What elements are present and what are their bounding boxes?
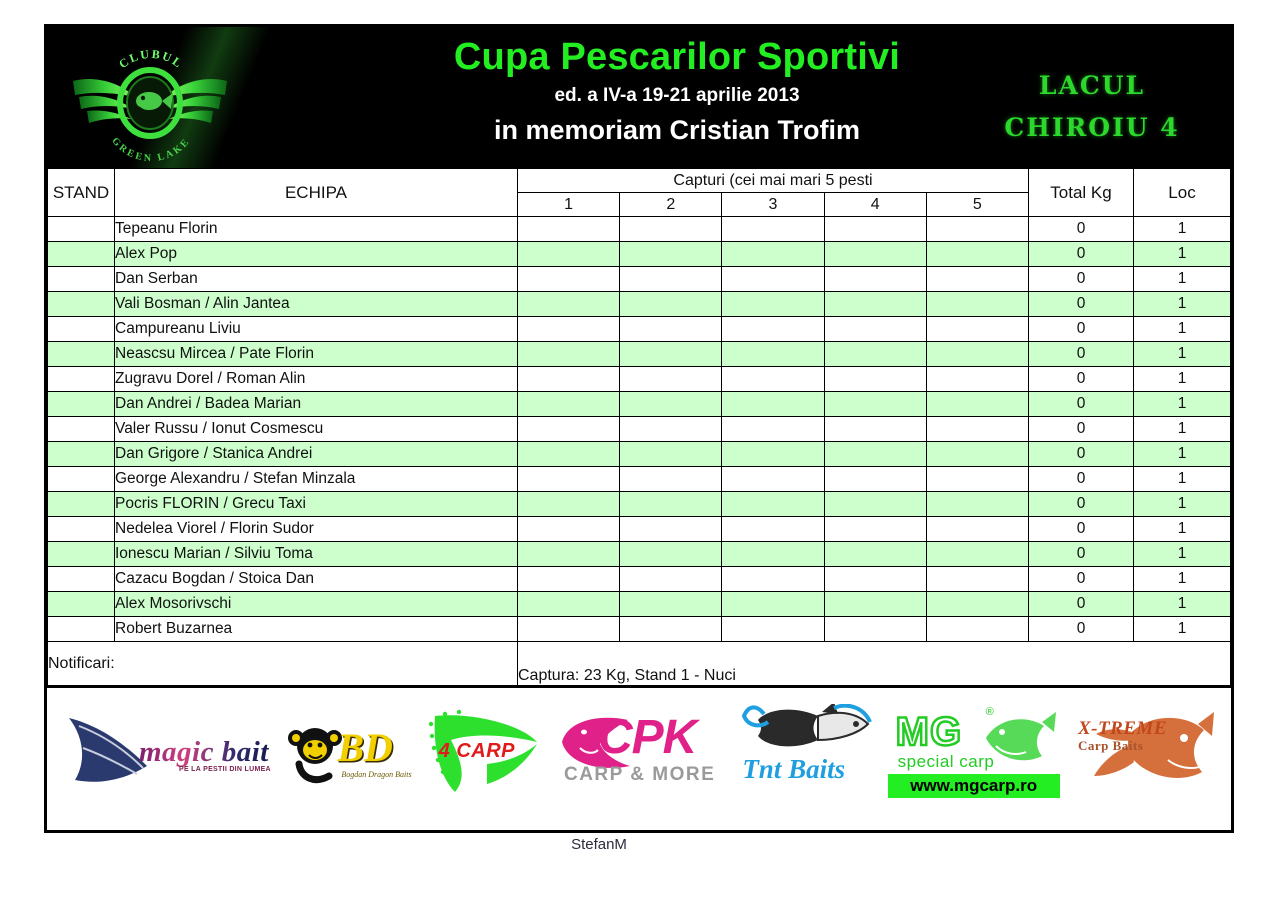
cell-capture-2[interactable]: [620, 567, 722, 592]
cell-capture-4[interactable]: [824, 367, 926, 392]
cell-capture-2[interactable]: [620, 217, 722, 242]
cell-loc[interactable]: 1: [1134, 542, 1231, 567]
cell-capture-3[interactable]: [722, 317, 824, 342]
cell-stand[interactable]: [48, 342, 115, 367]
table-row: Ionescu Marian / Silviu Toma01: [48, 542, 1231, 567]
sponsor-cpk-tagline: CARP & MORE: [564, 764, 715, 786]
cell-capture-1[interactable]: [518, 467, 620, 492]
cell-loc[interactable]: 1: [1134, 467, 1231, 492]
header-total-kg: Total Kg: [1029, 169, 1134, 217]
cell-capture-1[interactable]: [518, 267, 620, 292]
sponsor-4carp[interactable]: 4 CARP: [425, 702, 545, 798]
cell-capture-3[interactable]: [722, 242, 824, 267]
cell-capture-2[interactable]: [620, 417, 722, 442]
cell-capture-5[interactable]: [926, 292, 1028, 317]
cell-capture-5[interactable]: [926, 592, 1028, 617]
cell-loc[interactable]: 1: [1134, 517, 1231, 542]
sponsor-magic-bait-tagline: PE LA PESTII DIN LUMEA: [179, 766, 271, 773]
cell-capture-5[interactable]: [926, 267, 1028, 292]
cell-capture-2[interactable]: [620, 367, 722, 392]
cell-capture-5[interactable]: [926, 242, 1028, 267]
cell-capture-3[interactable]: [722, 417, 824, 442]
cell-echipa[interactable]: George Alexandru / Stefan Minzala: [115, 467, 518, 492]
cell-echipa[interactable]: Zugravu Dorel / Roman Alin: [115, 367, 518, 392]
lake-line-2: CHIROIU 4: [967, 111, 1217, 145]
cell-capture-1[interactable]: [518, 517, 620, 542]
cell-capture-4[interactable]: [824, 467, 926, 492]
sponsor-magic-bait[interactable]: magic bait PE LA PESTII DIN LUMEA: [61, 704, 276, 796]
cell-capture-2[interactable]: [620, 617, 722, 642]
cell-capture-3[interactable]: [722, 467, 824, 492]
sponsor-xtreme-tagline: Carp Baits: [1078, 738, 1143, 754]
cell-capture-1[interactable]: [518, 592, 620, 617]
cell-total-kg[interactable]: 0: [1029, 292, 1134, 317]
cell-echipa[interactable]: Alex Pop: [115, 242, 518, 267]
cell-total-kg[interactable]: 0: [1029, 392, 1134, 417]
cell-echipa[interactable]: Dan Andrei / Badea Marian: [115, 392, 518, 417]
sponsor-mg-special-carp[interactable]: MG ® special carp www.mgcarp.ro: [888, 698, 1063, 802]
cell-loc[interactable]: 1: [1134, 342, 1231, 367]
sponsor-bd-tagline: Bogdan Dragon Baits: [341, 770, 411, 779]
cell-capture-4[interactable]: [824, 517, 926, 542]
cell-stand[interactable]: [48, 242, 115, 267]
cell-capture-3[interactable]: [722, 517, 824, 542]
cell-total-kg[interactable]: 0: [1029, 592, 1134, 617]
cell-capture-3[interactable]: [722, 342, 824, 367]
green-carp-icon: [986, 712, 1056, 760]
cell-capture-3[interactable]: [722, 542, 824, 567]
cell-stand[interactable]: [48, 517, 115, 542]
cell-stand[interactable]: [48, 492, 115, 517]
cell-capture-2[interactable]: [620, 342, 722, 367]
cell-loc[interactable]: 1: [1134, 567, 1231, 592]
table-row: Campureanu Liviu01: [48, 317, 1231, 342]
table-row: Neascsu Mircea / Pate Florin01: [48, 342, 1231, 367]
cell-loc[interactable]: 1: [1134, 592, 1231, 617]
table-header-row-1: STAND ECHIPA Capturi (cei mai mari 5 pes…: [48, 169, 1231, 193]
header-capture-1: 1: [518, 193, 620, 217]
cell-echipa[interactable]: Nedelea Viorel / Florin Sudor: [115, 517, 518, 542]
notifications-text[interactable]: Captura: 23 Kg, Stand 1 - Nuci: [518, 642, 1231, 686]
cell-echipa[interactable]: Ionescu Marian / Silviu Toma: [115, 542, 518, 567]
cell-capture-1[interactable]: [518, 392, 620, 417]
header-loc: Loc: [1134, 169, 1231, 217]
cell-loc[interactable]: 1: [1134, 242, 1231, 267]
cell-capture-2[interactable]: [620, 442, 722, 467]
cell-stand[interactable]: [48, 367, 115, 392]
table-row: Robert Buzarnea01: [48, 617, 1231, 642]
cell-capture-5[interactable]: [926, 517, 1028, 542]
cell-capture-1[interactable]: [518, 567, 620, 592]
sponsor-mg-mark: MG: [896, 710, 962, 755]
table-row: Alex Pop01: [48, 242, 1231, 267]
results-sheet: CLUBUL GREEN LAKE Cupa Pescarilor Sporti…: [44, 24, 1234, 833]
cell-capture-4[interactable]: [824, 542, 926, 567]
club-logo: CLUBUL GREEN LAKE: [65, 35, 235, 163]
cell-stand[interactable]: [48, 417, 115, 442]
cell-capture-5[interactable]: [926, 317, 1028, 342]
header-capture-5: 5: [926, 193, 1028, 217]
sponsor-xtreme-name: X-TREME: [1078, 718, 1167, 740]
cell-capture-4[interactable]: [824, 417, 926, 442]
cell-capture-2[interactable]: [620, 267, 722, 292]
cell-loc[interactable]: 1: [1134, 442, 1231, 467]
cell-stand[interactable]: [48, 292, 115, 317]
cell-capture-2[interactable]: [620, 242, 722, 267]
lake-label: LACUL CHIROIU 4: [967, 69, 1217, 145]
cell-echipa[interactable]: Tepeanu Florin: [115, 217, 518, 242]
fish-tail-icon: [69, 718, 147, 782]
cell-capture-5[interactable]: [926, 542, 1028, 567]
table-row: Valer Russu / Ionut Cosmescu01: [48, 417, 1231, 442]
logo-bottom-text: GREEN LAKE: [109, 136, 192, 163]
table-body: Tepeanu Florin01Alex Pop01Dan Serban01Va…: [48, 217, 1231, 642]
lake-line-1: LACUL: [967, 69, 1217, 103]
sponsor-tnt-baits[interactable]: Tnt Baits: [738, 702, 878, 798]
cell-loc[interactable]: 1: [1134, 392, 1231, 417]
cell-capture-4[interactable]: [824, 492, 926, 517]
cell-capture-1[interactable]: [518, 242, 620, 267]
cell-loc[interactable]: 1: [1134, 417, 1231, 442]
sponsor-mg-name: special carp: [898, 752, 995, 772]
cell-capture-5[interactable]: [926, 617, 1028, 642]
header-capture-3: 3: [722, 193, 824, 217]
notifications-label: Notificari:: [48, 642, 518, 686]
cell-stand[interactable]: [48, 592, 115, 617]
results-table: STAND ECHIPA Capturi (cei mai mari 5 pes…: [47, 168, 1231, 686]
title-block: Cupa Pescarilor Sportivi ed. a IV-a 19-2…: [347, 33, 1007, 149]
cell-capture-1[interactable]: [518, 217, 620, 242]
cell-capture-4[interactable]: [824, 567, 926, 592]
event-memoriam: in memoriam Cristian Trofim: [347, 111, 1007, 149]
table-row: Dan Grigore / Stanica Andrei01: [48, 442, 1231, 467]
cell-stand[interactable]: [48, 217, 115, 242]
table-row: Vali Bosman / Alin Jantea01: [48, 292, 1231, 317]
cell-capture-2[interactable]: [620, 392, 722, 417]
cell-capture-2[interactable]: [620, 542, 722, 567]
cell-total-kg[interactable]: 0: [1029, 267, 1134, 292]
cell-total-kg[interactable]: 0: [1029, 567, 1134, 592]
cell-capture-2[interactable]: [620, 292, 722, 317]
cell-capture-5[interactable]: [926, 467, 1028, 492]
event-banner: CLUBUL GREEN LAKE Cupa Pescarilor Sporti…: [47, 27, 1231, 168]
cell-capture-4[interactable]: [824, 392, 926, 417]
cell-capture-4[interactable]: [824, 442, 926, 467]
cell-stand[interactable]: [48, 317, 115, 342]
cell-total-kg[interactable]: 0: [1029, 517, 1134, 542]
notifications-row: Notificari: Captura: 23 Kg, Stand 1 - Nu…: [48, 642, 1231, 686]
cell-capture-4[interactable]: [824, 292, 926, 317]
author-signature: StefanM: [44, 836, 1234, 853]
cell-capture-1[interactable]: [518, 492, 620, 517]
cell-total-kg[interactable]: 0: [1029, 367, 1134, 392]
cell-capture-2[interactable]: [620, 317, 722, 342]
header-echipa: ECHIPA: [115, 169, 518, 217]
cell-total-kg[interactable]: 0: [1029, 542, 1134, 567]
cell-capture-1[interactable]: [518, 342, 620, 367]
cell-capture-5[interactable]: [926, 367, 1028, 392]
monkey-icon: [288, 728, 342, 780]
cell-capture-4[interactable]: [824, 592, 926, 617]
cell-capture-3[interactable]: [722, 617, 824, 642]
cell-loc[interactable]: 1: [1134, 292, 1231, 317]
cell-total-kg[interactable]: 0: [1029, 342, 1134, 367]
sponsor-cpk-name: CPK: [598, 710, 696, 765]
cell-stand[interactable]: [48, 392, 115, 417]
cell-total-kg[interactable]: 0: [1029, 417, 1134, 442]
cell-loc[interactable]: 1: [1134, 617, 1231, 642]
cell-loc[interactable]: 1: [1134, 267, 1231, 292]
cell-total-kg[interactable]: 0: [1029, 442, 1134, 467]
cell-echipa[interactable]: Dan Serban: [115, 267, 518, 292]
cell-echipa[interactable]: Neascsu Mircea / Pate Florin: [115, 342, 518, 367]
cell-echipa[interactable]: Dan Grigore / Stanica Andrei: [115, 442, 518, 467]
cell-echipa[interactable]: Pocris FLORIN / Grecu Taxi: [115, 492, 518, 517]
cell-loc[interactable]: 1: [1134, 367, 1231, 392]
cell-capture-5[interactable]: [926, 567, 1028, 592]
cell-stand[interactable]: [48, 617, 115, 642]
table-row: Nedelea Viorel / Florin Sudor01: [48, 517, 1231, 542]
sponsor-magic-bait-name: magic bait: [139, 736, 269, 769]
sponsor-mg-url[interactable]: www.mgcarp.ro: [888, 774, 1060, 798]
cell-loc[interactable]: 1: [1134, 317, 1231, 342]
cell-capture-4[interactable]: [824, 267, 926, 292]
cell-capture-3[interactable]: [722, 292, 824, 317]
cell-capture-3[interactable]: [722, 592, 824, 617]
cell-stand[interactable]: [48, 267, 115, 292]
sponsor-bd[interactable]: BD Bogdan Dragon Baits: [285, 704, 415, 796]
table-row: Zugravu Dorel / Roman Alin01: [48, 367, 1231, 392]
cell-capture-1[interactable]: [518, 542, 620, 567]
cell-echipa[interactable]: Campureanu Liviu: [115, 317, 518, 342]
table-row: Pocris FLORIN / Grecu Taxi01: [48, 492, 1231, 517]
header-stand: STAND: [48, 169, 115, 217]
sponsor-4carp-name: 4 CARP: [439, 740, 515, 763]
cell-capture-1[interactable]: [518, 292, 620, 317]
cell-capture-5[interactable]: [926, 492, 1028, 517]
cell-capture-1[interactable]: [518, 367, 620, 392]
event-edition: ed. a IV-a 19-21 aprilie 2013: [347, 81, 1007, 111]
sponsor-cpk[interactable]: CPK CARP & MORE: [554, 702, 729, 798]
sponsor-mg-registered-icon: ®: [986, 706, 994, 718]
cell-capture-4[interactable]: [824, 217, 926, 242]
cell-capture-2[interactable]: [620, 517, 722, 542]
cell-capture-5[interactable]: [926, 217, 1028, 242]
cell-capture-2[interactable]: [620, 492, 722, 517]
cell-loc[interactable]: 1: [1134, 492, 1231, 517]
cell-total-kg[interactable]: 0: [1029, 617, 1134, 642]
cell-echipa[interactable]: Cazacu Bogdan / Stoica Dan: [115, 567, 518, 592]
cell-capture-3[interactable]: [722, 267, 824, 292]
sponsor-band: magic bait PE LA PESTII DIN LUMEA B: [47, 686, 1231, 811]
cell-total-kg[interactable]: 0: [1029, 242, 1134, 267]
table-row: Dan Andrei / Badea Marian01: [48, 392, 1231, 417]
cell-capture-3[interactable]: [722, 367, 824, 392]
sponsor-tnt-name: Tnt Baits: [742, 754, 845, 785]
svg-text:GREEN LAKE: GREEN LAKE: [109, 136, 192, 163]
cell-total-kg[interactable]: 0: [1029, 317, 1134, 342]
cell-capture-1[interactable]: [518, 417, 620, 442]
fish-icon: [744, 704, 870, 746]
cell-capture-1[interactable]: [518, 617, 620, 642]
cell-capture-2[interactable]: [620, 467, 722, 492]
cell-stand[interactable]: [48, 442, 115, 467]
cell-total-kg[interactable]: 0: [1029, 492, 1134, 517]
cell-capture-4[interactable]: [824, 242, 926, 267]
cell-capture-4[interactable]: [824, 317, 926, 342]
table-row: Alex Mosorivschi01: [48, 592, 1231, 617]
header-capture-2: 2: [620, 193, 722, 217]
cell-total-kg[interactable]: 0: [1029, 467, 1134, 492]
cell-stand[interactable]: [48, 542, 115, 567]
cell-stand[interactable]: [48, 467, 115, 492]
cell-capture-3[interactable]: [722, 392, 824, 417]
cell-capture-3[interactable]: [722, 442, 824, 467]
table-row: George Alexandru / Stefan Minzala01: [48, 467, 1231, 492]
table-row: Dan Serban01: [48, 267, 1231, 292]
header-capturi-group: Capturi (cei mai mari 5 pesti: [518, 169, 1029, 193]
cell-capture-3[interactable]: [722, 567, 824, 592]
cell-echipa[interactable]: Vali Bosman / Alin Jantea: [115, 292, 518, 317]
cell-capture-5[interactable]: [926, 442, 1028, 467]
header-capture-4: 4: [824, 193, 926, 217]
cell-capture-5[interactable]: [926, 417, 1028, 442]
cell-stand[interactable]: [48, 567, 115, 592]
table-row: Tepeanu Florin01: [48, 217, 1231, 242]
cell-capture-1[interactable]: [518, 442, 620, 467]
cell-echipa[interactable]: Valer Russu / Ionut Cosmescu: [115, 417, 518, 442]
cell-loc[interactable]: 1: [1134, 217, 1231, 242]
cell-capture-5[interactable]: [926, 342, 1028, 367]
cell-capture-3[interactable]: [722, 492, 824, 517]
sponsor-xtreme[interactable]: X-TREME Carp Baits: [1072, 702, 1217, 798]
table-row: Cazacu Bogdan / Stoica Dan01: [48, 567, 1231, 592]
sponsor-bd-name: BD: [337, 724, 393, 771]
cell-total-kg[interactable]: 0: [1029, 217, 1134, 242]
cell-capture-4[interactable]: [824, 617, 926, 642]
cell-capture-1[interactable]: [518, 317, 620, 342]
cell-capture-2[interactable]: [620, 592, 722, 617]
cell-echipa[interactable]: Robert Buzarnea: [115, 617, 518, 642]
cell-capture-3[interactable]: [722, 217, 824, 242]
cell-echipa[interactable]: Alex Mosorivschi: [115, 592, 518, 617]
event-title: Cupa Pescarilor Sportivi: [347, 33, 1007, 81]
cell-capture-5[interactable]: [926, 392, 1028, 417]
cell-capture-4[interactable]: [824, 342, 926, 367]
